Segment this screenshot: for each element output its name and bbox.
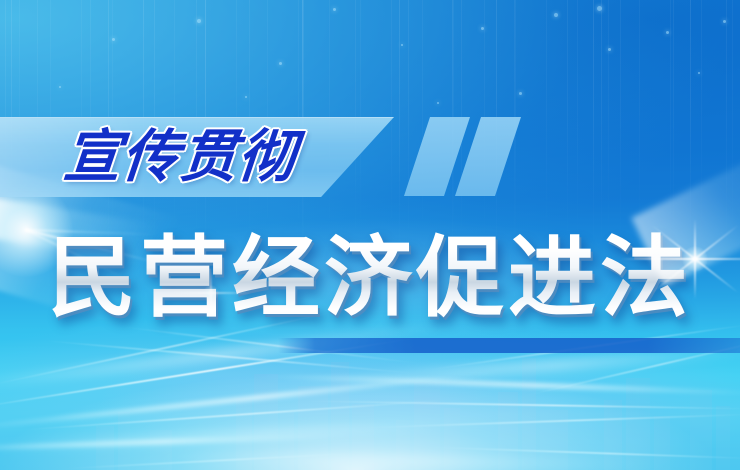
background-accent-strip — [278, 338, 740, 353]
promotional-banner: 宣传贯彻 民营经济促进法 — [0, 0, 740, 470]
page-title: 民营经济促进法 — [0, 228, 740, 332]
subtitle-text: 宣传贯彻 — [61, 119, 388, 195]
